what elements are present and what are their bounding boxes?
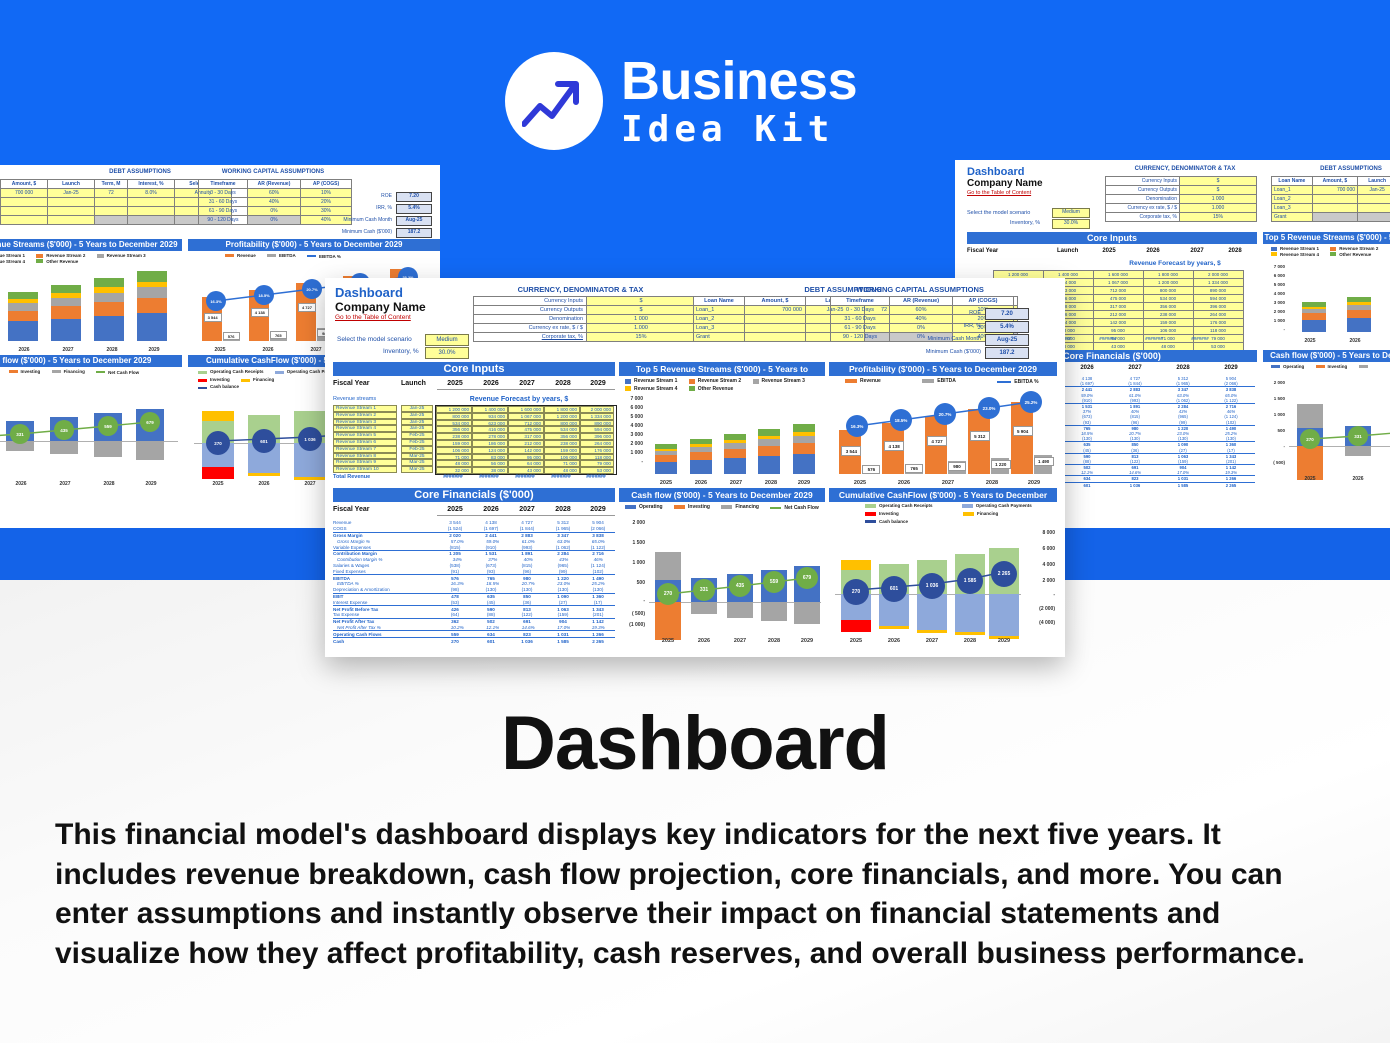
cell[interactable]: 2 000 000 [1194,271,1244,279]
legend-item: EBITDA % [307,254,341,259]
financial-row: Net Profit Before Tax4265908131 0631 343 [333,605,615,612]
table-row[interactable]: Currency ex rate, $ / $1.000 [1106,204,1257,213]
revenue-forecast-cell[interactable]: 106 000 [436,447,472,454]
financial-value: 4 727 [509,520,545,525]
total-revenue-label: Total Revenue [333,474,370,480]
revenue-forecast-cell[interactable]: 159 000 [436,440,472,447]
financial-row: Interest Expense(53)(45)(36)(27)(17) [333,599,615,605]
financial-row-label: Net Profit Before Tax [333,607,437,612]
financial-value: 1 090 [545,594,581,599]
financial-row: Operating Cash Flows5596348231 0311 266 [333,630,615,637]
revenue-stream-launch[interactable]: Jan-25 [401,405,433,412]
cell-value[interactable]: 1.000 [587,324,696,333]
financial-value: (815) [509,563,545,568]
table-of-content-link[interactable]: Go to the Table of Content [335,314,411,321]
wc-block-title: WORKING CAPITAL ASSUMPTIONS [830,285,1010,294]
legend-item: Other Revenue [36,259,78,264]
table-row[interactable]: Corporate tax, %15% [1106,213,1257,222]
financial-value: 1 585 [545,639,581,644]
revenue-forecast-grid[interactable]: 1 200 0001 400 0001 600 0001 800 0002 00… [435,405,617,475]
cell-empty[interactable] [48,198,95,207]
financial-value: (2 066) [581,526,615,531]
cell-empty[interactable] [128,207,175,216]
cell-value[interactable]: 1 000 [587,315,696,324]
axis-label: 2029 [132,347,176,353]
cell-ar[interactable]: 0% [248,207,301,216]
cell[interactable]: 95 000 [1094,327,1144,335]
revenue-forecast-cell[interactable]: 934 000 [472,413,508,420]
revenue-forecast-row[interactable]: 238 000278 000317 000356 000396 000 [436,433,616,440]
table-row[interactable] [1,216,232,225]
cell[interactable]: 712 000 [1094,287,1144,295]
financial-row-label: Contribution Margin [333,551,437,556]
cell[interactable]: 594 000 [1194,295,1244,303]
cell-amount[interactable] [1312,204,1357,213]
financial-value: (88) [1063,459,1111,464]
bgr-company: Company Name [967,178,1043,189]
revenue-stream-launch[interactable]: Jan-25 [401,425,433,432]
cell[interactable]: 475 000 [1094,295,1144,303]
cell-amount[interactable] [745,315,806,324]
bgl-kpi-1-label: IRR, % [326,205,392,211]
cell-empty[interactable] [1,198,48,207]
scenario-select[interactable]: Medium [425,334,469,346]
financial-value: 2 716 [581,551,615,556]
bgr-rev-legend: Revenue Stream 1 Revenue Stream 2 Revenu… [1271,246,1388,257]
revenue-forecast-row[interactable]: 159 000186 000212 000238 000264 000 [436,440,616,447]
revenue-forecast-row[interactable]: 32 00038 00043 00048 00053 000 [436,467,616,474]
cell-loan[interactable]: Loan_2 [1272,195,1313,204]
net-cashflow-bubble: 331 [693,579,715,601]
table-row[interactable]: 700 000 Jan-25 72 8.0% Annuity [1,189,232,198]
cell[interactable]: 238 000 [1144,311,1194,319]
financial-value: (99) [545,569,581,574]
axis-label: 2028 [90,347,134,353]
financial-value: (27) [1159,448,1207,453]
cell-locked [128,216,175,225]
axis-label: 2028 [955,638,985,644]
cell-empty[interactable] [95,207,128,216]
cell[interactable]: 1 334 000 [1194,279,1244,287]
financial-value: (130) [509,587,545,592]
financial-value: (122) [509,612,545,617]
revenue-forecast-cell[interactable]: 43 000 [508,467,544,474]
cell-locked [1358,213,1390,222]
revenue-forecast-cell[interactable]: 356 000 [436,426,472,433]
financial-value: 576 [437,576,473,581]
cell-value[interactable]: $ [1180,186,1257,195]
axis-label: 2026 [1338,338,1372,344]
revenue-forecast-cell[interactable]: 1 200 000 [436,406,472,413]
revenue-stream-name[interactable]: Revenue Stream 2 [333,412,397,419]
legend-item: Net Cash Flow [770,505,818,511]
revenue-forecast-row[interactable]: 1 200 0001 400 0001 600 0001 800 0002 00… [436,406,616,413]
revenue-forecast-cell[interactable]: 118 000 [580,454,614,461]
legend-item: Investing [198,377,230,384]
revenue-stream-launch[interactable]: Jan-25 [401,419,433,426]
revenue-forecast-cell[interactable]: 800 000 [436,413,472,420]
revenue-forecast-cell[interactable]: 2 000 000 [580,406,614,413]
revenue-forecast-cell[interactable]: 356 000 [544,433,580,440]
financial-value: 2 441 [473,533,509,538]
cell-label: Currency Inputs [474,297,587,306]
revenue-stream-launch[interactable]: Feb-25 [401,446,433,453]
financial-value: 823 [509,632,545,637]
financial-value: (538) [437,563,473,568]
cell-value[interactable]: 15% [587,333,696,342]
bar-2026 [690,439,712,474]
financial-value: 20.7% [511,581,546,586]
financial-value: (993) [509,545,545,550]
table-row[interactable]: Denomination1 000 [1106,195,1257,204]
axis-label: 2029 [136,481,166,487]
cell-empty[interactable] [95,198,128,207]
revenue-forecast-cell[interactable]: 212 000 [508,440,544,447]
revenue-forecast-cell[interactable]: 1 400 000 [472,406,508,413]
financial-value: (201) [1207,459,1255,464]
cell-launch[interactable] [1358,204,1390,213]
cell-empty[interactable] [48,216,95,225]
revenue-forecast-cell[interactable]: 186 000 [472,440,508,447]
financial-row-label: Operating Cash Flows [333,632,437,637]
axis-label: 2026 [248,481,280,487]
revenue-forecast-cell[interactable]: 1 600 000 [508,406,544,413]
cell[interactable]: 1 067 000 [1094,279,1144,287]
revenue-forecast-cell[interactable]: 396 000 [580,433,614,440]
revenue-forecast-cell[interactable]: 53 000 [580,467,614,474]
scenario-label: Select the model scenario [337,336,412,343]
revenue-forecast-cell[interactable]: 83 000 [472,454,508,461]
financial-row: Variable Expenses(815)(910)(993)(1 062)(… [333,544,615,550]
table-row[interactable]: Loan_3 [1272,204,1390,213]
cell-value[interactable]: $ [587,306,696,315]
legend-item: Operating Cash Receipts [198,369,264,376]
revenue-forecast-cell[interactable]: 32 000 [436,467,472,474]
legend-item: Operating [1271,364,1304,369]
financial-value: (910) [473,545,509,550]
revenue-forecast-cell[interactable]: 95 000 [508,454,544,461]
revenue-forecast-row[interactable]: 534 000623 000712 000800 000890 000 [436,420,616,427]
financial-value: (201) [581,612,615,617]
revenue-stream-names[interactable]: Revenue Stream 1Revenue Stream 2Revenue … [333,405,397,473]
financial-value: (130) [1159,436,1207,441]
financial-row-label: Net Profit After Tax % [333,625,440,630]
cell[interactable]: 106 000 [1144,327,1194,335]
financial-value: 14.6% [511,625,546,630]
cell-loan-name[interactable]: Loan_2 [694,315,745,324]
revenue-forecast-cell[interactable]: 264 000 [580,440,614,447]
table-row[interactable]: Currency Inputs$ [474,297,696,306]
financial-value: (1 965) [1159,381,1207,386]
revenue-forecast-cell[interactable]: 1 200 000 [544,413,580,420]
axis-label: 2027 [719,480,753,486]
y-tick: 5 000 [619,414,643,420]
revenue-forecast-cell[interactable]: 534 000 [436,420,472,427]
table-row[interactable]: Loan_1700 000Jan-25 [1272,186,1390,195]
cell-ar[interactable]: 60% [248,189,301,198]
financial-value: (1 122) [581,545,615,550]
financial-row: Fixed Expenses(91)(93)(96)(99)(102) [333,568,615,574]
financial-row: Gross Margin %57.0%59.0%61.0%63.0%65.0% [333,538,615,544]
revenue-forecast-cell[interactable]: 534 000 [544,426,580,433]
bgl-kpi-2-label: Minimum Cash Month [306,217,392,223]
financial-value: 4 138 [473,520,509,525]
financial-value: 34% [440,557,475,562]
revenue-forecast-cell[interactable]: 623 000 [472,420,508,427]
cell-loan-name[interactable]: Loan_3 [694,324,745,333]
net-cashflow-bubble: 270 [657,583,679,605]
cell-interest[interactable]: 8.0% [128,189,175,198]
revenue-forecast-cell[interactable]: 278 000 [472,433,508,440]
revenue-stream-name[interactable]: Revenue Stream 9 [333,459,397,466]
cell-amount[interactable] [745,333,806,342]
cell-amount[interactable]: 700 000 [745,306,806,315]
cell[interactable]: 800 000 [1144,287,1194,295]
cell-value[interactable]: $ [587,297,696,306]
financial-value: 2 020 [437,533,473,538]
revenue-forecast-cell[interactable]: 890 000 [580,420,614,427]
revenue-forecast-cell[interactable]: 238 000 [544,440,580,447]
cell[interactable]: 1 600 000 [1094,271,1144,279]
financial-value: 270 [437,639,473,644]
cell-amount[interactable]: 700 000 [1312,186,1357,195]
revenue-forecast-cell[interactable]: 124 000 [472,447,508,454]
cell[interactable]: 534 000 [1144,295,1194,303]
revenue-forecast-cell[interactable]: 1 334 000 [580,413,614,420]
cumulative-cashflow-chart-header: Cumulative CashFlow ($'000) - 5 Years to… [829,488,1057,502]
legend-item: Revenue [845,378,881,384]
cell-loan[interactable]: Loan_1 [1272,186,1313,195]
revenue-stream-name[interactable]: Revenue Stream 1 [333,405,397,412]
financial-row-label: Variable Expenses [333,545,437,550]
revenue-forecast-cell[interactable]: 594 000 [580,426,614,433]
financial-row-label: EBITDA % [333,581,440,586]
revenue-stream-launch[interactable]: Feb-25 [401,439,433,446]
cell[interactable]: 317 000 [1094,303,1144,311]
revenue-stream-launch[interactable]: Mar-25 [401,453,433,460]
financial-value: 1 266 [1207,476,1255,481]
cell-value[interactable]: 15% [1180,213,1257,222]
financial-value: (1 697) [473,526,509,531]
revenue-forecast-cell[interactable]: 416 000 [472,426,508,433]
core-inputs-fiscal-year-label: Fiscal Year [333,380,369,387]
cell-label: Currency Inputs [1106,177,1180,186]
revenue-forecast-cell[interactable]: 38 000 [472,467,508,474]
cell-value[interactable]: $ [1180,177,1257,186]
cell-amount[interactable] [1312,195,1357,204]
cell-timeframe: 31 - 60 Days [831,315,890,324]
bgr-toc-link[interactable]: Go to the Table of Content [967,190,1031,196]
cell[interactable]: 396 000 [1194,303,1244,311]
revenue-stream-launches[interactable]: Jan-25Jan-25Jan-25Jan-25Feb-25Feb-25Feb-… [401,405,433,473]
bgr-core-inputs-title: Core Inputs [967,232,1257,244]
revenue-stream-launch[interactable]: Jan-25 [401,412,433,419]
revenue-forecast-cell[interactable]: 238 000 [436,433,472,440]
y-tick: 4 000 [619,423,643,429]
cell-value[interactable]: 1 000 [1180,195,1257,204]
financial-value: (130) [581,587,615,592]
revenue-forecast-cell[interactable]: 71 000 [436,454,472,461]
cell[interactable]: 118 000 [1194,327,1244,335]
axis-label: 2029 [989,638,1019,644]
revenue-forecast-row[interactable]: 356 000416 000475 000534 000594 000 [436,426,616,433]
cell-loan-name[interactable]: Grant [694,333,745,342]
cell[interactable]: 142 000 [1094,319,1144,327]
revenue-forecast-cell[interactable]: 106 000 [544,454,580,461]
legend-item: Operating Cash Payments [962,503,1032,510]
revenue-stream-launch[interactable]: Feb-25 [401,432,433,439]
growth-arrow-chart-icon [505,52,603,150]
revenue-forecast-cell[interactable]: 64 000 [508,460,544,467]
revenue-stream-launch[interactable]: Mar-25 [401,466,433,473]
revenue-forecast-cell[interactable]: 1 800 000 [544,406,580,413]
revenue-forecast-cell[interactable]: 79 000 [580,460,614,467]
cell-loan[interactable]: Loan_3 [1272,204,1313,213]
financial-value: (130) [1207,436,1255,441]
financial-value: 601 [1063,483,1111,488]
cell-launch[interactable] [1358,195,1390,204]
cell[interactable]: 1 800 000 [1144,271,1194,279]
table-row[interactable]: Currency Inputs$ [1106,177,1257,186]
table-row[interactable]: Currency Outputs$ [474,306,696,315]
revenue-stream-launch[interactable]: Mar-25 [401,459,433,466]
revenue-stream-name[interactable]: Revenue Stream 10 [333,466,397,473]
bgr-launch-label: Launch [1057,248,1078,254]
revenue-forecast-cell[interactable]: 475 000 [508,426,544,433]
revenue-stream-name[interactable]: Revenue Stream 5 [333,432,397,439]
cell-loan-name[interactable]: Loan_1 [694,306,745,315]
cell-empty[interactable] [128,198,175,207]
revenue-forecast-row[interactable]: 48 00056 00064 00071 00079 000 [436,460,616,467]
cell[interactable]: 159 000 [1144,319,1194,327]
cash-flow-chart: 2 000 1 500 1 000 500 - ( 500) (1 000) 2… [619,516,825,646]
cell-amount[interactable] [745,324,806,333]
financial-value: (53) [437,600,473,605]
cell[interactable]: 1 200 000 [1144,279,1194,287]
dashboard-title: Dashboard [335,285,403,300]
financial-value: 25.2% [581,581,615,586]
table-header-row: Timeframe AR (Revenue) AP (COGS) [831,297,1014,306]
cell[interactable]: 264 000 [1194,311,1244,319]
legend-item: Revenue Stream 4 [625,386,677,392]
cell-empty[interactable] [48,207,95,216]
bgr-year: 2025 [1089,248,1129,254]
cell[interactable]: 176 000 [1194,319,1244,327]
revenue-forecast-cell[interactable]: 56 000 [472,460,508,467]
table-row[interactable]: Loan_2 [1272,195,1390,204]
revenue-forecast-cell[interactable]: 1 067 000 [508,413,544,420]
table-row[interactable]: Currency ex rate, $ / $1.000 [474,324,696,333]
financial-value: (910) [1063,398,1111,403]
legend-item: Investing [9,369,41,374]
financial-value: (1 062) [545,545,581,550]
table-row[interactable] [1,198,232,207]
cell-empty[interactable] [1,207,48,216]
legend-item: Revenue Stream 2 [1330,246,1378,251]
bar-2026 [8,292,38,341]
bgr-inventory-value[interactable]: 30.0% [1052,219,1090,229]
brand-logo: Business Idea Kit [505,52,857,150]
cell[interactable]: 356 000 [1144,303,1194,311]
bar-2029 [793,424,815,474]
cell-loan[interactable]: Grant [1272,213,1313,222]
revenue-forecast-row[interactable]: 800 000934 0001 067 0001 200 0001 334 00… [436,413,616,420]
financial-value: 590 [473,607,509,612]
bar-2026 [1347,297,1371,332]
axis-label: 2026 [684,480,718,486]
revenue-forecast-cell[interactable]: 48 000 [436,460,472,467]
bgr-year: 2028 [1215,248,1255,254]
bgr-scenario-label: Select the model scenario [967,210,1030,216]
axis-label: 2027 [50,481,80,487]
cell-launch[interactable]: Jan-25 [1358,186,1390,195]
financial-value: (1 062) [1159,398,1207,403]
y-tick: 1 000 [619,450,643,456]
table-row[interactable]: Denomination1 000 [474,315,696,324]
th-ar: AR (Revenue) [248,180,301,189]
financial-value: (1 122) [1207,398,1255,403]
legend-item: Other Revenue [1330,252,1371,257]
profitability-legend: Revenue EBITDA EBITDA % [845,378,1049,385]
revenue-forecast-cell[interactable]: 317 000 [508,433,544,440]
cell-value[interactable]: 1.000 [1180,204,1257,213]
cash-balance-bubble: 1 036 [919,573,945,599]
bgr-revenue-chart: 7 000 6 000 5 000 4 000 3 000 2 000 1 00… [1263,264,1390,346]
revenue-forecast-cell[interactable]: 176 000 [580,447,614,454]
revenue-stream-name[interactable]: Revenue Stream 8 [333,453,397,460]
revenue-forecast-cell[interactable]: 712 000 [508,420,544,427]
revenue-forecast-cell[interactable]: 800 000 [544,420,580,427]
table-row[interactable]: Currency Outputs$ [1106,186,1257,195]
cell[interactable]: 212 000 [1094,311,1144,319]
financial-value: (93) [473,569,509,574]
financial-value: 823 [1111,476,1159,481]
revenue-forecast-row[interactable]: 106 000124 000142 000159 000176 000 [436,447,616,454]
revenue-forecast-cell[interactable]: 159 000 [544,447,580,454]
revenue-forecast-cell[interactable]: 142 000 [508,447,544,454]
cell-launch[interactable]: Jan-25 [48,189,95,198]
th-amount: Amount, $ [1,180,48,189]
revenue-forecast-row[interactable]: 71 00083 00095 000106 000118 000 [436,454,616,461]
cell-amount[interactable]: 700 000 [1,189,48,198]
bgr-scenario-value[interactable]: Medium [1052,208,1090,218]
cell-timeframe: 61 - 90 Days [199,207,248,216]
cell-term[interactable]: 72 [95,189,128,198]
revenue-forecast-cell[interactable]: 71 000 [544,460,580,467]
cell-empty[interactable] [1,216,48,225]
legend-item: Net Cash Flow [96,370,139,375]
table-row[interactable]: Corporate tax, %15% [474,333,696,342]
bar-2029 [137,271,167,341]
table-row[interactable] [1,207,232,216]
net-cashflow-line [1263,374,1390,484]
revenue-stream-name[interactable]: Revenue Stream 7 [333,446,397,453]
financial-value: 635 [473,594,509,599]
revenue-forecast-cell[interactable]: 48 000 [544,467,580,474]
kpi-irr-value: 5.4% [985,321,1029,333]
main-dashboard-sheet[interactable]: Dashboard Company Name Go to the Table o… [325,278,1065,657]
th-loan-name: Loan Name [1272,177,1313,186]
cell[interactable]: 890 000 [1194,287,1244,295]
cell-ar[interactable]: 40% [248,198,301,207]
y-tick: 7 000 [1263,264,1285,269]
inventory-input[interactable]: 30.0% [425,347,469,359]
legend-item: Operating [625,504,663,510]
revenue-stream-name[interactable]: Revenue Stream 4 [333,425,397,432]
revenue-stream-name[interactable]: Revenue Stream 6 [333,439,397,446]
revenue-stream-name[interactable]: Revenue Stream 3 [333,419,397,426]
table-row[interactable]: Grant [1272,213,1390,222]
